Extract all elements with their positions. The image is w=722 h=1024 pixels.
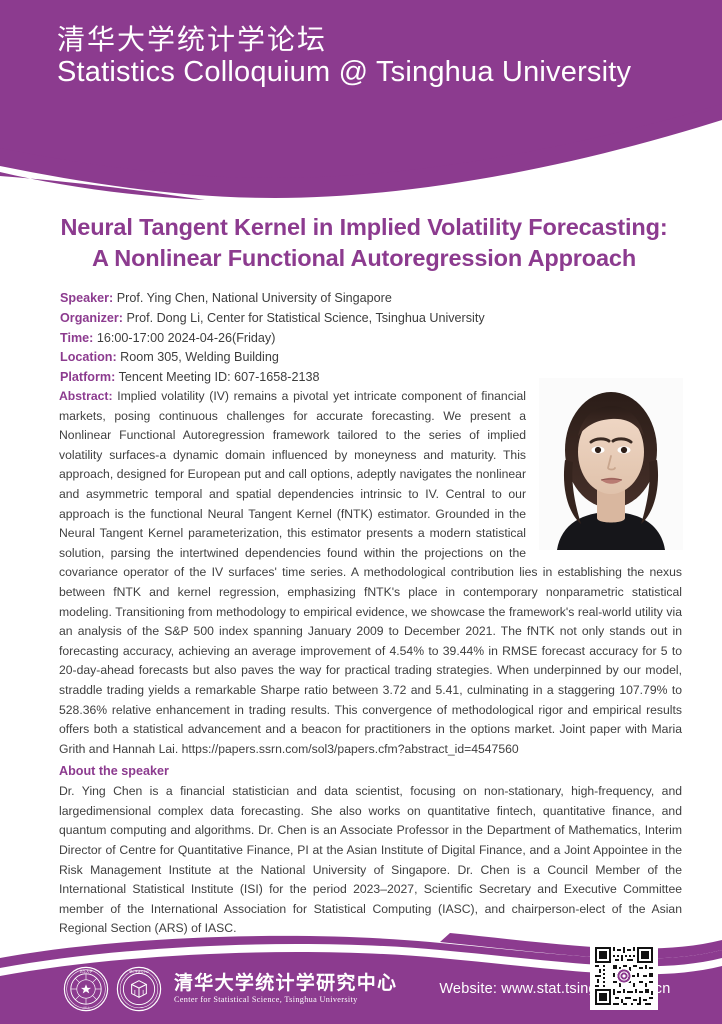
center-for-statistical-science-seal-icon: 统计学研究中心 xyxy=(116,966,162,1012)
speaker-bio-paragraph: Dr. Ying Chen is a financial statisticia… xyxy=(59,782,682,939)
website-label: Website: xyxy=(439,981,497,997)
detail-row-time: Time: 16:00-17:00 2024-04-26(Friday) xyxy=(60,329,680,349)
platform-label: Platform: xyxy=(60,370,115,384)
footer-center-name-english: Center for Statistical Science, Tsinghua… xyxy=(174,996,397,1005)
platform-value: Tencent Meeting ID: 607-1658-2138 xyxy=(119,370,320,384)
footer-logo-group: 清华大学 1911 统计学研究中心 xyxy=(63,966,162,1012)
talk-title-line-1: Neural Tangent Kernel in Implied Volatil… xyxy=(50,212,678,243)
qr-code-icon[interactable] xyxy=(593,945,655,1007)
header-band: 清华大学统计学论坛 Statistics Colloquium @ Tsingh… xyxy=(0,0,722,215)
svg-text:统计学研究中心: 统计学研究中心 xyxy=(129,969,148,973)
footer-center-name: 清华大学统计学研究中心 Center for Statistical Scien… xyxy=(174,974,397,1005)
location-label: Location: xyxy=(60,350,117,364)
detail-row-organizer: Organizer: Prof. Dong Li, Center for Sta… xyxy=(60,309,680,329)
talk-title-line-2: A Nonlinear Functional Autoregression Ap… xyxy=(50,243,678,274)
event-details: Speaker: Prof. Ying Chen, National Unive… xyxy=(60,289,680,388)
speaker-value: Prof. Ying Chen, National University of … xyxy=(117,291,392,305)
detail-row-speaker: Speaker: Prof. Ying Chen, National Unive… xyxy=(60,289,680,309)
header-title-chinese: 清华大学统计学论坛 xyxy=(57,25,631,55)
tsinghua-university-seal-icon: 清华大学 1911 xyxy=(63,966,109,1012)
detail-row-location: Location: Room 305, Welding Building xyxy=(60,348,680,368)
time-label: Time: xyxy=(60,331,93,345)
page-title: Neural Tangent Kernel in Implied Volatil… xyxy=(50,212,678,275)
svg-text:1911: 1911 xyxy=(83,1006,89,1009)
svg-text:清华大学: 清华大学 xyxy=(80,968,94,973)
time-value: 16:00-17:00 2024-04-26(Friday) xyxy=(97,331,276,345)
portrait-illustration xyxy=(539,378,683,550)
header-title-english: Statistics Colloquium @ Tsinghua Univers… xyxy=(57,57,631,88)
speaker-label: Speaker: xyxy=(60,291,113,305)
footer-center-name-chinese: 清华大学统计学研究中心 xyxy=(174,974,397,994)
header-title-group: 清华大学统计学论坛 Statistics Colloquium @ Tsingh… xyxy=(57,25,631,89)
location-value: Room 305, Welding Building xyxy=(120,350,279,364)
organizer-label: Organizer: xyxy=(60,311,123,325)
about-the-speaker-heading: About the speaker xyxy=(59,761,682,782)
qr-code[interactable] xyxy=(590,942,658,1010)
abstract-label: Abstract: xyxy=(59,389,113,403)
organizer-value: Prof. Dong Li, Center for Statistical Sc… xyxy=(126,311,484,325)
speaker-portrait-photo xyxy=(539,378,683,550)
